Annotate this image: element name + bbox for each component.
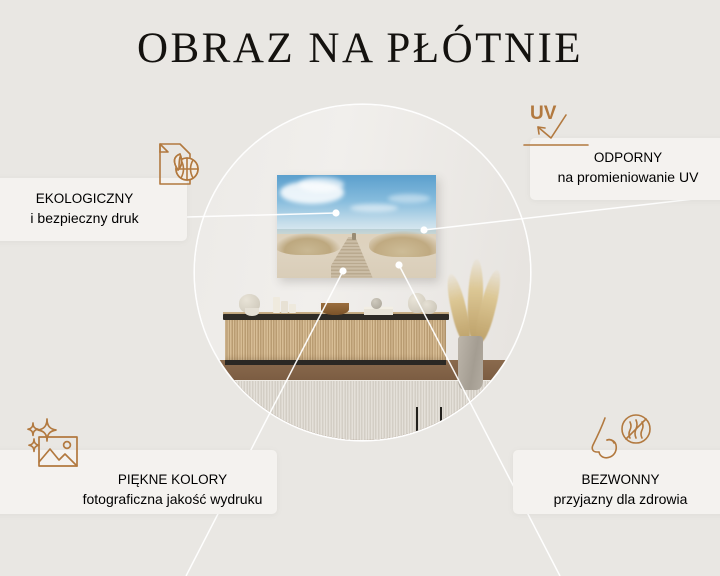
sideboard-leg (232, 407, 234, 441)
sideboard-leg (416, 407, 418, 441)
sideboard-leg-bar (232, 437, 256, 439)
feature-sub-piekne-kolory: fotograficzna jakość wydruku (60, 490, 285, 509)
picture-sparkles-icon (22, 417, 84, 473)
cloud (299, 177, 344, 191)
stacked-books (364, 309, 392, 316)
feature-sub-bezwonny: przyjazny dla zdrowia (518, 490, 720, 509)
wooden-bowl (321, 303, 349, 314)
feature-text-ekologiczny: EKOLOGICZNY i bezpieczny druk (0, 190, 187, 228)
feature-head-odporny: ODPORNY (530, 149, 720, 168)
ceramic-vase (421, 300, 436, 313)
feature-text-odporny: ODPORNY na promieniowanie UV (530, 149, 720, 187)
sideboard-leg (440, 407, 442, 441)
feature-text-piekne-kolory: PIĘKNE KOLORY fotograficzna jakość wydru… (60, 471, 285, 509)
eco-document-leaf-globe-icon (148, 140, 208, 192)
dune-grass-right (369, 231, 436, 258)
sideboard-base-trim (225, 360, 446, 364)
beach-post (352, 233, 356, 240)
ceramic-bowl (245, 308, 259, 316)
cloud (388, 194, 429, 203)
feature-sub-odporny: na promieniowanie UV (530, 168, 720, 187)
dune-grass-left (277, 233, 341, 255)
page-title: OBRAZ NA PŁÓTNIE (0, 26, 720, 71)
tall-floor-vase (458, 336, 483, 390)
candle (289, 304, 296, 313)
interior-room-image (195, 105, 530, 440)
infographic-canvas: OBRAZ NA PŁÓTNIE (0, 0, 720, 576)
central-circle-scene (195, 105, 530, 440)
sideboard-leg-bar (416, 437, 440, 439)
candle (281, 301, 288, 313)
feature-head-ekologiczny: EKOLOGICZNY (0, 190, 187, 209)
cloud (350, 204, 398, 212)
sideboard-ribbed-front (225, 320, 446, 361)
feature-text-bezwonny: BEZWONNY przyjazny dla zdrowia (518, 471, 720, 509)
nose-no-smell-icon (588, 412, 654, 468)
feature-head-piekne-kolory: PIĘKNE KOLORY (60, 471, 285, 490)
feature-head-bezwonny: BEZWONNY (518, 471, 720, 490)
sideboard-leg (255, 407, 257, 441)
uv-icon-label: UV (530, 103, 557, 124)
area-rug (195, 380, 530, 440)
sideboard (225, 314, 446, 369)
uv-ray-reflection-icon: UV (518, 98, 604, 150)
canvas-artwork (277, 175, 436, 277)
feature-sub-ekologiczny: i bezpieczny druk (0, 209, 187, 228)
candle (273, 297, 280, 313)
